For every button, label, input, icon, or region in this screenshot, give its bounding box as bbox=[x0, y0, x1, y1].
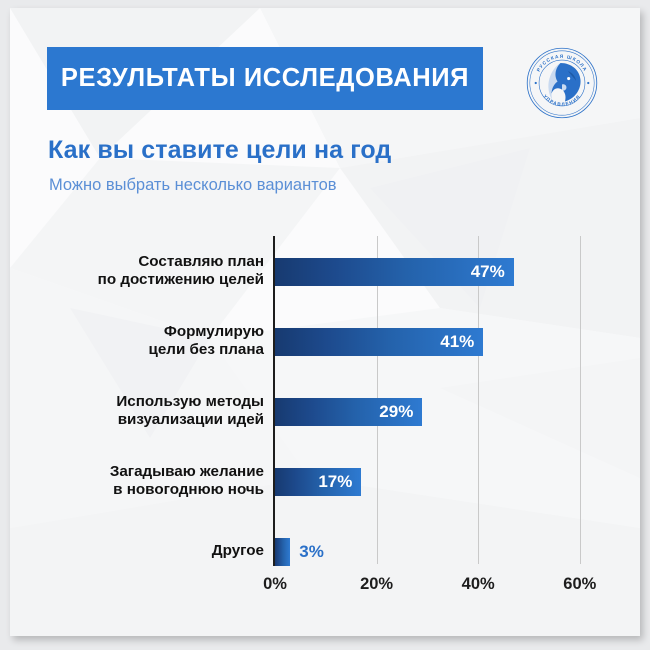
bar-value-label: 3% bbox=[290, 542, 324, 562]
bar: 47% bbox=[275, 258, 514, 286]
x-axis-tick-label: 20% bbox=[347, 575, 407, 594]
bar-category-label: Загадываю желание в новогоднюю ночь bbox=[10, 463, 264, 498]
x-axis-tick-label: 0% bbox=[245, 575, 305, 594]
bar-value-label: 17% bbox=[318, 472, 361, 492]
x-axis-tick-label: 40% bbox=[448, 575, 508, 594]
bar-row: Формулирую цели без плана41% bbox=[10, 328, 640, 356]
infographic-card: РЕЗУЛЬТАТЫ ИССЛЕДОВАНИЯ РУССКАЯ ШКОЛА УП… bbox=[10, 8, 640, 636]
bar: 17% bbox=[275, 468, 361, 496]
bar-row: Использую методы визуализации идей29% bbox=[10, 398, 640, 426]
bar-value-label: 29% bbox=[379, 402, 422, 422]
bar-category-label: Формулирую цели без плана bbox=[10, 323, 264, 358]
bar-value-label: 41% bbox=[440, 332, 483, 352]
bar-category-label: Использую методы визуализации идей bbox=[10, 393, 264, 428]
bar: 3% bbox=[275, 538, 290, 566]
bar: 41% bbox=[275, 328, 483, 356]
bar-category-label: Другое bbox=[10, 542, 264, 560]
bar-row: Составляю план по достижению целей47% bbox=[10, 258, 640, 286]
bar-value-label: 47% bbox=[471, 262, 514, 282]
x-axis-tick-label: 60% bbox=[550, 575, 610, 594]
bar-row: Загадываю желание в новогоднюю ночь17% bbox=[10, 468, 640, 496]
bar-category-label: Составляю план по достижению целей bbox=[10, 253, 264, 288]
bar-chart: Составляю план по достижению целей47%Фор… bbox=[10, 8, 640, 636]
bar: 29% bbox=[275, 398, 422, 426]
bar-row: Другое3% bbox=[10, 538, 640, 566]
